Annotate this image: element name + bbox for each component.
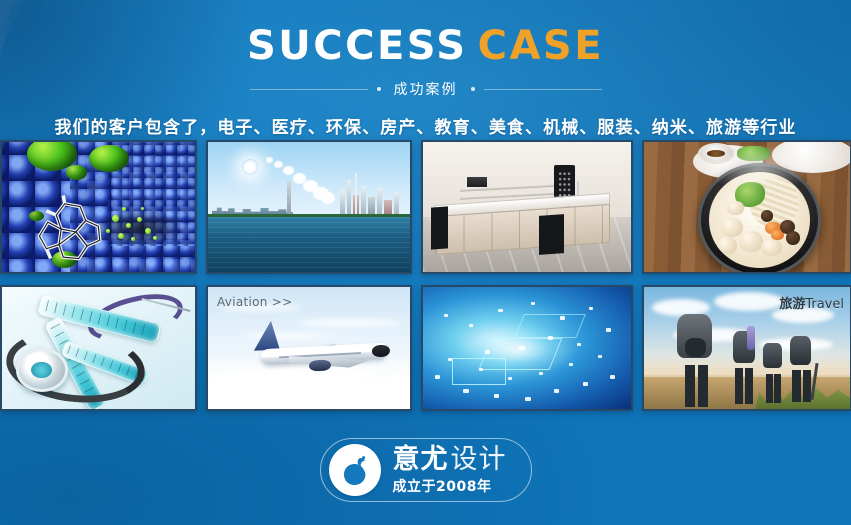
hiker-leg-4a: [792, 370, 800, 402]
travel-caption-en: Travel: [805, 297, 844, 312]
food-chicken-1: [721, 218, 743, 237]
page-title: SUCCESSCASE: [0, 26, 851, 66]
food-chicken-5: [727, 201, 744, 215]
env-water: [208, 217, 410, 272]
food-artwork: [644, 142, 850, 272]
hiker-leg-1b: [698, 365, 708, 406]
food-chicken-2: [739, 231, 763, 252]
hiker-leg-2b: [745, 368, 753, 405]
subtitle-cn: 成功案例: [390, 79, 462, 99]
case-image-grid: Aviation >>: [0, 140, 851, 411]
food-mushroom-2: [786, 231, 800, 244]
travel-cloud-2: [714, 292, 784, 311]
food-chicken-3: [717, 237, 737, 254]
company-logo[interactable]: 意尤设计 成立于2008年: [320, 438, 532, 502]
case-tile-environment[interactable]: [206, 140, 412, 274]
case-tile-electronics[interactable]: [421, 285, 633, 411]
logo-established: 成立于2008年: [393, 480, 507, 494]
lab-bench-end-right: [539, 214, 564, 255]
divider-line-right: [484, 89, 602, 90]
hiker-leg-3b: [774, 374, 781, 403]
hiker-torso-1: [685, 338, 706, 356]
aircraft-nose: [372, 344, 390, 358]
fullerene-cage-icon: [21, 194, 125, 264]
env-industrial-plant: [337, 173, 406, 217]
title-case: CASE: [478, 23, 604, 69]
hiker-leg-3a: [766, 374, 773, 403]
travel-caption-cn: 旅游: [779, 297, 805, 312]
environment-artwork: [208, 142, 410, 272]
case-tile-laboratory[interactable]: [421, 140, 633, 274]
hiker-backpack-4: [790, 336, 811, 365]
nano-green-sphere-2: [89, 145, 130, 172]
tagline-text: 我们的客户包含了，电子、医疗、环保、房产、教育、美食、机械、服装、纳米、旅游等行…: [0, 113, 851, 138]
divider-dot-right: [471, 87, 475, 91]
bird-mark-icon: [329, 444, 381, 496]
electronics-sparkle-field: [423, 287, 631, 409]
hiker-leg-2a: [735, 368, 743, 405]
hiker-backpack-3: [763, 343, 782, 367]
logo-name-light: 设计: [451, 444, 507, 475]
medical-artwork: [2, 287, 195, 409]
logo-text-block: 意尤设计 成立于2008年: [393, 446, 507, 494]
subtitle-divider-row: 成功案例: [0, 79, 851, 99]
stethoscope-chestpiece: [16, 348, 68, 392]
env-smokestack: [287, 181, 291, 217]
food-chicken-4: [761, 239, 781, 256]
title-success: SUCCESS: [247, 23, 468, 69]
nano-green-sphere-3: [66, 165, 87, 179]
case-tile-food[interactable]: [642, 140, 851, 274]
aviation-wisp-3: [244, 333, 337, 339]
nano-artwork: [2, 142, 195, 272]
banner-header: SUCCESSCASE 成功案例 我们的客户包含了，电子、医疗、环保、房产、教育…: [0, 0, 851, 138]
case-tile-nano[interactable]: [0, 140, 197, 274]
case-tile-medical[interactable]: [0, 285, 197, 411]
food-steam: [706, 145, 813, 184]
hiker-sleeping-mat: [747, 326, 755, 350]
divider-dot-left: [377, 87, 381, 91]
food-hotpot-broth: [709, 172, 810, 267]
aviation-caption: Aviation >>: [217, 295, 293, 309]
laboratory-artwork: [423, 142, 631, 272]
divider-line-left: [250, 89, 368, 90]
case-tile-aviation[interactable]: Aviation >>: [206, 285, 412, 411]
success-case-banner: SUCCESSCASE 成功案例 我们的客户包含了，电子、医疗、环保、房产、教育…: [0, 0, 851, 525]
logo-name-bold: 意尤: [393, 444, 449, 475]
travel-artwork: 旅游Travel: [644, 287, 850, 409]
travel-caption: 旅游Travel: [779, 293, 844, 312]
hiker-leg-4b: [803, 370, 811, 402]
aviation-artwork: Aviation >>: [208, 287, 410, 409]
lab-equipment-box: [467, 177, 488, 187]
logo-name: 意尤设计: [393, 446, 507, 473]
case-tile-travel[interactable]: 旅游Travel: [642, 285, 851, 411]
hiker-leg-1a: [685, 365, 695, 406]
lab-bench-end-left: [431, 206, 448, 249]
aviation-wisp-2: [297, 319, 402, 327]
electronics-artwork: [423, 287, 631, 409]
